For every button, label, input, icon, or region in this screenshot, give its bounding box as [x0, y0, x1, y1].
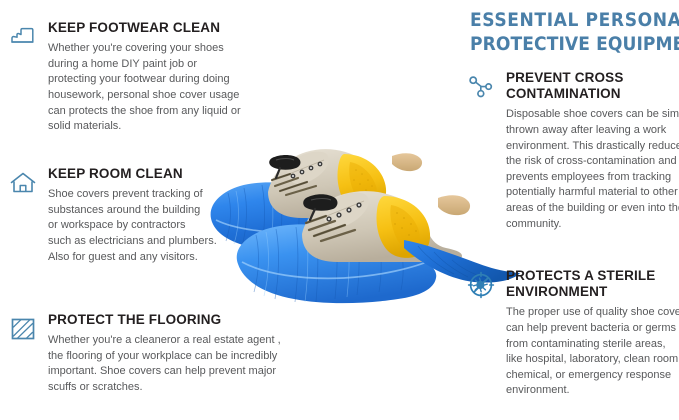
body-line: like hospital, laboratory, clean room,: [506, 352, 674, 368]
body-line: scuffs or scratches.: [48, 380, 238, 396]
heading-line: PROTECTS A STERILE: [506, 268, 674, 284]
feature-paragraph: Disposable shoe covers can be simply thr…: [506, 107, 674, 232]
feature-protects-a-sterile-environment: PROTECTS A STERILE ENVIRONMENT The prope…: [466, 268, 674, 399]
no-germs-icon: [466, 270, 496, 300]
feature-keep-footwear-clean: KEEP FOOTWEAR CLEAN Whether you're cover…: [8, 20, 223, 135]
body-line: during a home DIY paint job or: [48, 57, 223, 73]
body-line: protecting your footwear during doing: [48, 72, 223, 88]
body-line: The proper use of quality shoe covers: [506, 305, 674, 321]
feature-heading: KEEP ROOM CLEAN: [48, 166, 223, 182]
body-line: Whether you're covering your shoes: [48, 41, 223, 57]
body-line: such as electricians and plumbers.: [48, 234, 223, 250]
body-line: or workspace by contractors: [48, 218, 223, 234]
body-line: can protects the shoe from any liquid or: [48, 104, 223, 120]
body-line: community.: [506, 217, 674, 233]
feature-protect-the-flooring: PROTECT THE FLOORING Whether you're a cl…: [8, 312, 238, 396]
body-line: environment. This drastically reduces: [506, 139, 674, 155]
feature-body: PROTECT THE FLOORING Whether you're a cl…: [48, 312, 238, 396]
floor-tile-icon: [8, 314, 38, 344]
feature-heading: PROTECTS A STERILE ENVIRONMENT: [506, 268, 674, 300]
body-line: Whether you're a cleaneror a real estate…: [48, 333, 238, 349]
feature-paragraph: Shoe covers prevent tracking of substanc…: [48, 187, 223, 265]
body-line: areas of the building or even into the: [506, 201, 674, 217]
body-line: the flooring of your workplace can be in…: [48, 349, 238, 365]
feature-keep-room-clean: KEEP ROOM CLEAN Shoe covers prevent trac…: [8, 166, 223, 265]
body-line: substances around the building: [48, 203, 223, 219]
body-line: Shoe covers prevent tracking of: [48, 187, 223, 203]
heading-line: KEEP FOOTWEAR CLEAN: [48, 20, 223, 36]
page-title-line-1: ESSENTIAL PERSONAL: [470, 8, 674, 32]
body-line: chemical, or emergency response: [506, 368, 674, 384]
feature-heading: PREVENT CROSS CONTAMINATION: [506, 70, 674, 102]
page-title-line-2: PROTECTIVE EQUIPMENT: [470, 32, 674, 56]
heading-line: PREVENT CROSS: [506, 70, 674, 86]
body-line: potentially harmful material to other: [506, 185, 674, 201]
page-title: ESSENTIAL PERSONAL PROTECTIVE EQUIPMENT: [470, 8, 674, 57]
feature-paragraph: Whether you're covering your shoes durin…: [48, 41, 223, 135]
heading-line: ENVIRONMENT: [506, 284, 674, 300]
feature-body: PROTECTS A STERILE ENVIRONMENT The prope…: [506, 268, 674, 399]
heading-line: CONTAMINATION: [506, 86, 674, 102]
body-line: prevents employees from tracking: [506, 170, 674, 186]
infographic-canvas: ESSENTIAL PERSONAL PROTECTIVE EQUIPMENT …: [0, 0, 679, 420]
body-line: thrown away after leaving a work: [506, 123, 674, 139]
body-line: important. Shoe covers can help prevent …: [48, 364, 238, 380]
network-nodes-icon: [466, 72, 496, 102]
feature-body: PREVENT CROSS CONTAMINATION Disposable s…: [506, 70, 674, 232]
body-line: Disposable shoe covers can be simply: [506, 107, 674, 123]
boot-icon: [8, 22, 38, 52]
feature-heading: PROTECT THE FLOORING: [48, 312, 238, 328]
feature-heading: KEEP FOOTWEAR CLEAN: [48, 20, 223, 36]
body-line: environment.: [506, 383, 674, 399]
feature-body: KEEP FOOTWEAR CLEAN Whether you're cover…: [48, 20, 223, 135]
body-line: solid materials.: [48, 119, 223, 135]
feature-paragraph: Whether you're a cleaneror a real estate…: [48, 333, 238, 395]
house-icon: [8, 168, 38, 198]
body-line: can help prevent bacteria or germs: [506, 321, 674, 337]
body-line: the risk of cross-contamination and: [506, 154, 674, 170]
feature-paragraph: The proper use of quality shoe covers ca…: [506, 305, 674, 399]
body-line: housework, personal shoe cover usage: [48, 88, 223, 104]
feature-body: KEEP ROOM CLEAN Shoe covers prevent trac…: [48, 166, 223, 265]
body-line: Also for guest and any visitors.: [48, 250, 223, 266]
heading-line: PROTECT THE FLOORING: [48, 312, 238, 328]
feature-prevent-cross-contamination: PREVENT CROSS CONTAMINATION Disposable s…: [466, 70, 674, 232]
heading-line: KEEP ROOM CLEAN: [48, 166, 223, 182]
body-line: from contaminating sterile areas,: [506, 337, 674, 353]
